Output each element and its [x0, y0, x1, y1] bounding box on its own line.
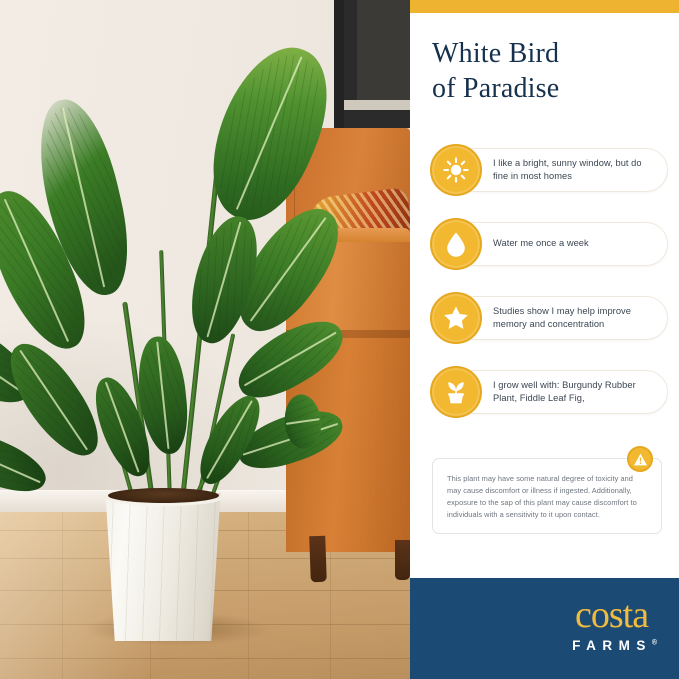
care-pill: I like a bright, sunny window, but do fi… [452, 148, 668, 192]
care-text: Water me once a week [493, 237, 589, 250]
water-drop-icon [430, 218, 482, 270]
care-pill: I grow well with: Burgundy Rubber Plant,… [452, 370, 668, 414]
toxicity-warning-box: This plant may have some natural degree … [432, 458, 662, 534]
info-panel: White Bird of Paradise [410, 0, 679, 679]
product-title-line2: of Paradise [432, 71, 662, 106]
product-photo [0, 0, 410, 679]
page-title: White Bird of Paradise [432, 36, 662, 106]
list-item: I grow well with: Burgundy Rubber Plant,… [430, 366, 668, 418]
star-icon [430, 292, 482, 344]
brand-subtitle: FARMS® [566, 638, 657, 653]
list-item: Water me once a week [430, 218, 668, 270]
product-title-line1: White Bird [432, 36, 662, 71]
brand-subtitle-text: FARMS [572, 638, 652, 653]
warning-text: This plant may have some natural degree … [447, 473, 647, 521]
product-info-card: White Bird of Paradise [0, 0, 679, 679]
care-feature-list: I like a bright, sunny window, but do fi… [430, 144, 668, 440]
care-text: I grow well with: Burgundy Rubber Plant,… [493, 379, 653, 406]
care-text: I like a bright, sunny window, but do fi… [493, 157, 653, 184]
pot-facets [96, 493, 230, 641]
top-gold-bar [410, 0, 679, 13]
pot-soil [108, 488, 219, 503]
care-pill: Studies show I may help improve memory a… [452, 296, 668, 340]
care-pill: Water me once a week [452, 222, 668, 266]
brand-footer: costa FARMS® [410, 578, 679, 679]
costa-farms-logo: costa FARMS® [566, 598, 657, 653]
list-item: I like a bright, sunny window, but do fi… [430, 144, 668, 196]
list-item: Studies show I may help improve memory a… [430, 292, 668, 344]
sun-icon [430, 144, 482, 196]
care-text: Studies show I may help improve memory a… [493, 305, 653, 332]
brand-name: costa [566, 598, 657, 633]
potted-plant-icon [430, 366, 482, 418]
trademark-mark: ® [652, 639, 657, 646]
warning-triangle-icon [627, 446, 653, 472]
